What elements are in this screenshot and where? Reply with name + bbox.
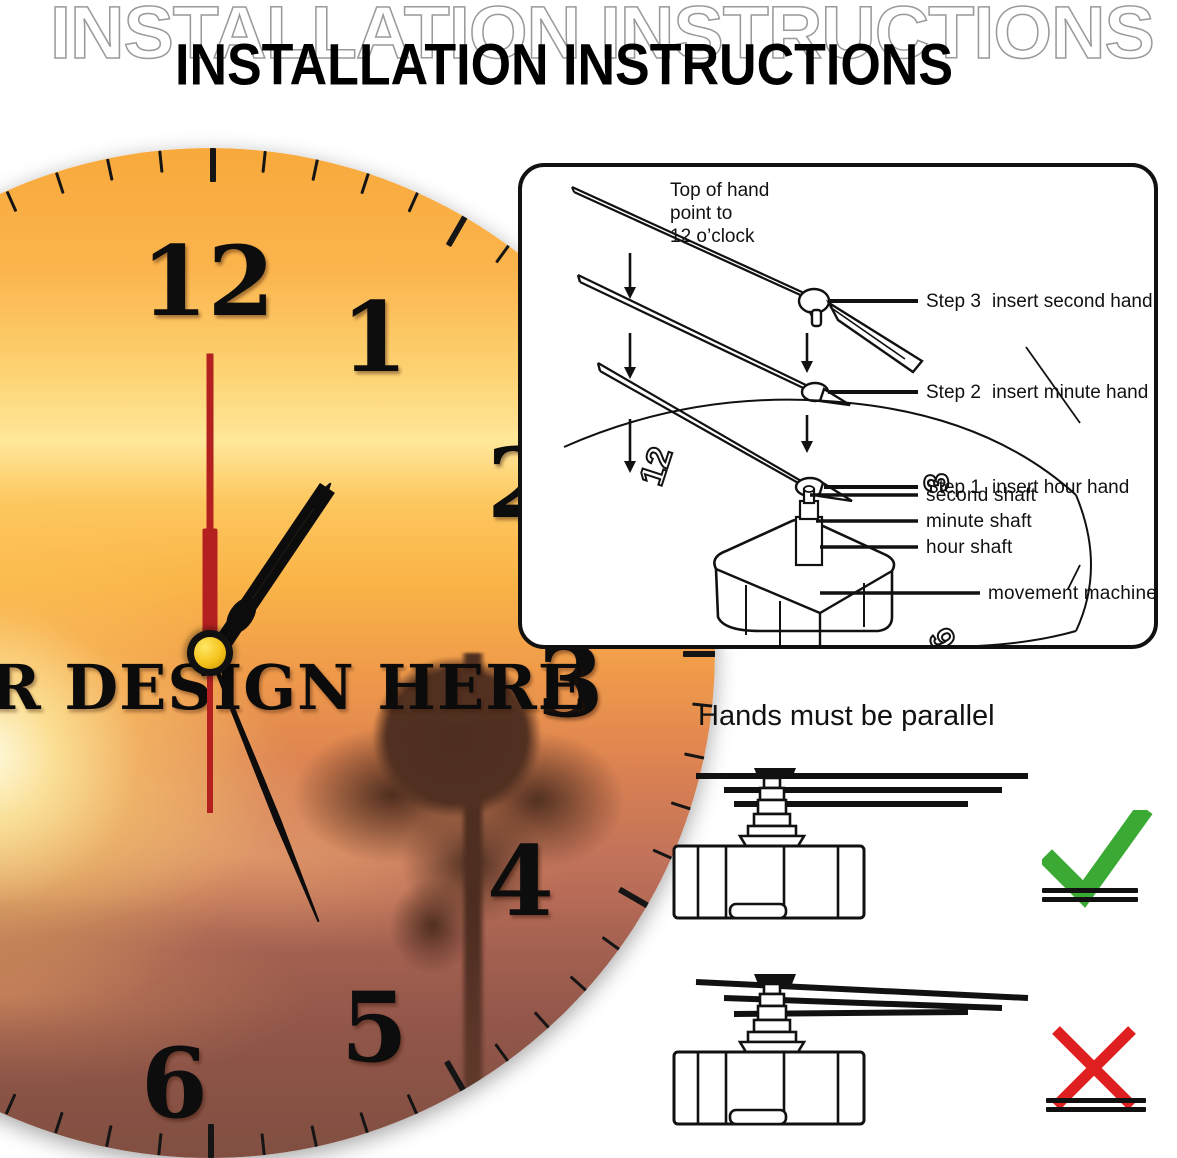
dial-number-3: 3 — [918, 472, 958, 492]
step-2-number: Step 2 — [926, 382, 992, 404]
top-note-line-2: point to — [670, 202, 769, 225]
clock-numeral-6: 6 — [141, 1036, 208, 1132]
step-2-text: insert minute hand — [992, 382, 1148, 403]
page-header: INSTALLATION INSTRUCTIONS INSTALLATION I… — [0, 0, 1177, 125]
step-3-row: Step 3insert second hand — [926, 291, 1153, 313]
assembly-diagram-svg — [520, 165, 1156, 647]
incorrect-hands-illustration — [672, 968, 1072, 1138]
top-note-line-3: 12 o’clock — [670, 225, 769, 248]
correct-verdict — [1042, 810, 1154, 930]
design-placeholder-text: YOUR DESIGN HERE — [0, 651, 586, 724]
correct-parallel-bars — [1042, 888, 1138, 906]
clock-numeral-1: 1 — [341, 290, 408, 386]
top-of-hand-note: Top of hand point to 12 o’clock — [670, 179, 769, 248]
clock-numeral-5: 5 — [341, 980, 408, 1076]
step-2-row: Step 2insert minute hand — [926, 382, 1148, 404]
clock-numeral-4: 4 — [487, 834, 554, 930]
minute-shaft-label: minute shaft — [926, 511, 1032, 533]
second-hand-tail — [207, 653, 213, 813]
step-3-text: insert second hand — [992, 291, 1153, 312]
parallel-section-title: Hands must be parallel — [698, 700, 995, 733]
clock-numeral-12: 12 — [141, 234, 275, 330]
hour-shaft-label: hour shaft — [926, 537, 1013, 559]
correct-hands-illustration — [672, 762, 1072, 932]
second-hand — [207, 353, 214, 653]
assembly-diagram-panel: Top of hand point to 12 o’clock Step 3in… — [518, 163, 1158, 649]
top-note-line-1: Top of hand — [670, 179, 769, 202]
clock-center-hub — [187, 630, 233, 676]
step-3-number: Step 3 — [926, 291, 992, 313]
movement-machine-label: movement machine — [988, 583, 1157, 605]
check-mark-icon — [1042, 810, 1154, 925]
incorrect-verdict — [1046, 1022, 1150, 1123]
page-title: INSTALLATION INSTRUCTIONS — [175, 32, 953, 99]
incorrect-parallel-bars — [1046, 1098, 1146, 1116]
